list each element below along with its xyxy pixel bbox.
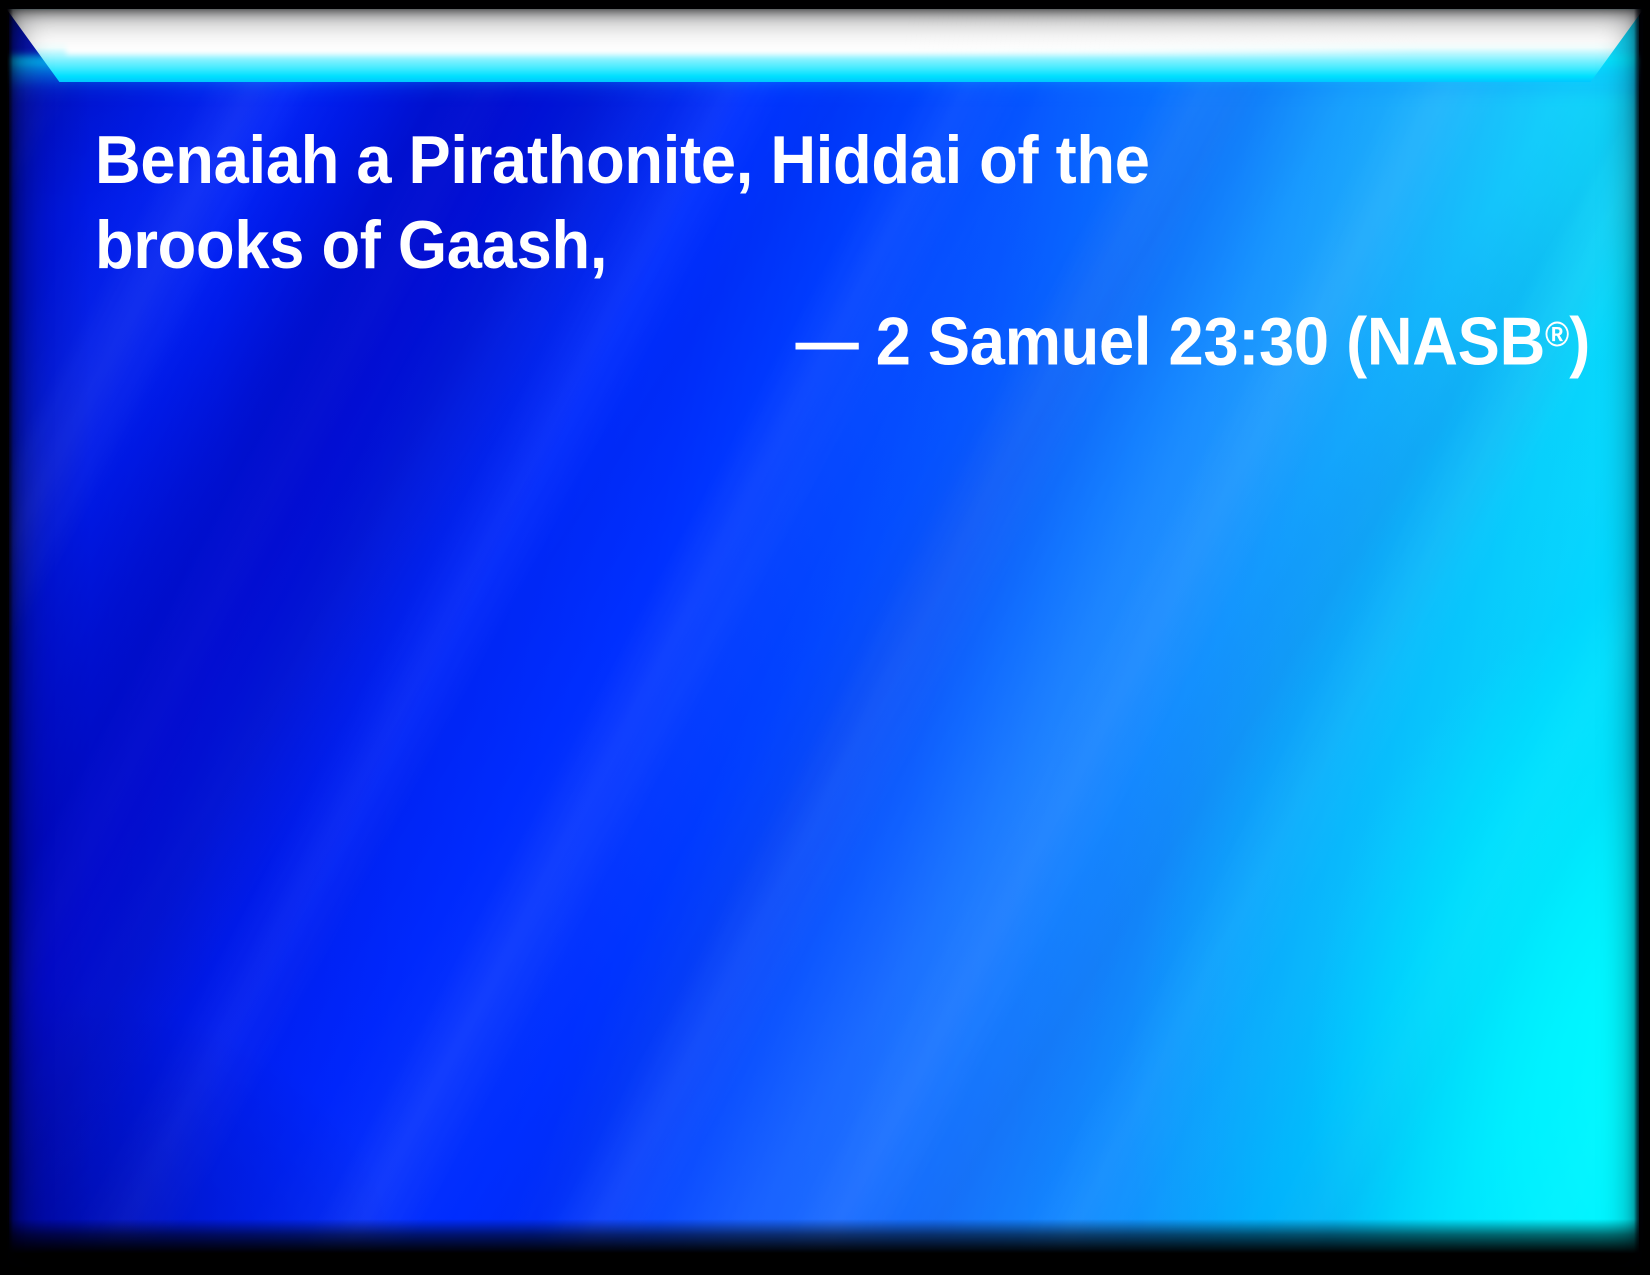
attribution-reference: 2 Samuel 23:30 (NASB	[876, 303, 1545, 379]
verse-slide: Benaiah a Pirathonite, Hiddai of the bro…	[0, 0, 1650, 1275]
registered-trademark-icon: ®	[1545, 315, 1569, 354]
attribution-em-dash: —	[795, 303, 875, 379]
verse-attribution: — 2 Samuel 23:30 (NASB®)	[200, 292, 1590, 384]
verse-line-1: Benaiah a Pirathonite, Hiddai of the	[95, 118, 1485, 203]
attribution-close-paren: )	[1569, 303, 1590, 379]
verse-line-2: brooks of Gaash,	[95, 203, 1485, 288]
verse-text-block: Benaiah a Pirathonite, Hiddai of the bro…	[0, 118, 1650, 384]
top-decorative-band	[0, 0, 1650, 82]
